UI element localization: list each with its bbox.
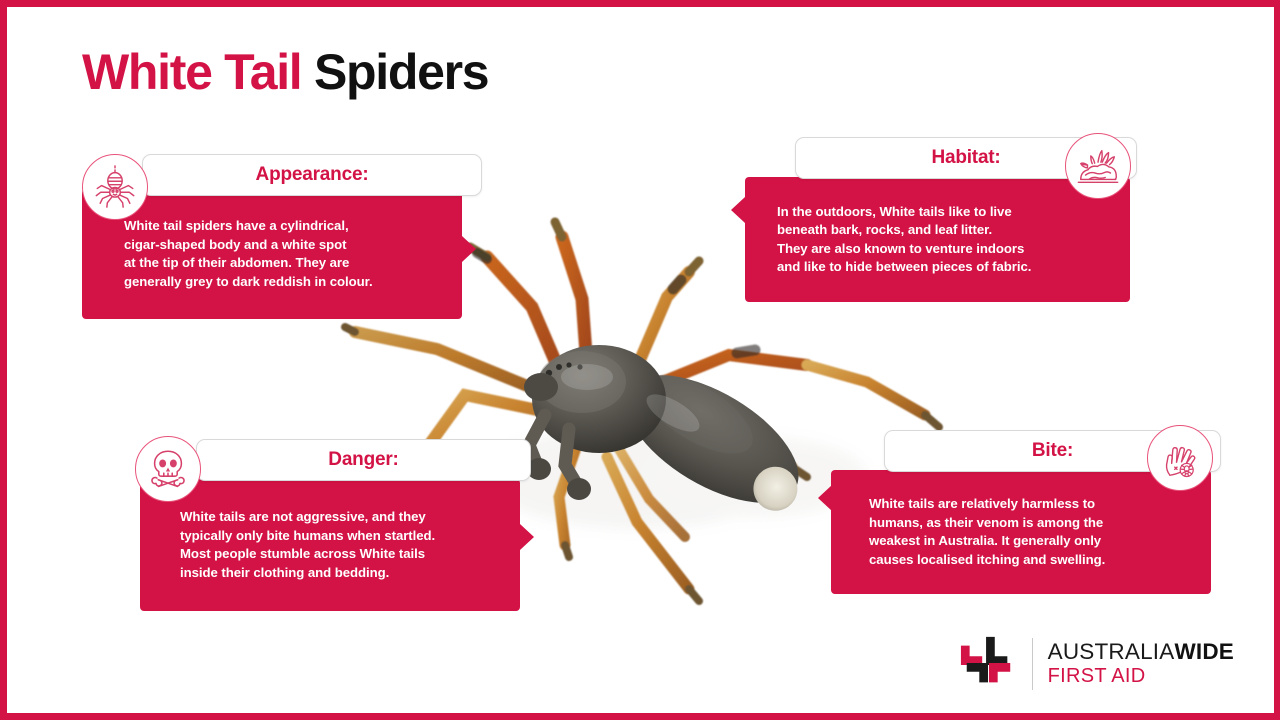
- card-heading-label-habitat: Habitat:: [931, 147, 1000, 169]
- card-text-danger: White tails are not aggressive, and they…: [180, 508, 435, 582]
- page-title: White Tail Spiders: [82, 44, 488, 102]
- card-heading-danger: Danger:: [196, 439, 531, 481]
- card-tail-danger: [520, 524, 534, 550]
- page-frame: White Tail Spiders: [0, 0, 1280, 720]
- card-heading-label-bite: Bite:: [1032, 440, 1073, 462]
- australia-wide-cross-mark: [959, 635, 1017, 693]
- card-text-appearance: White tail spiders have a cylindrical, c…: [124, 217, 373, 291]
- card-tail-bite: [818, 485, 832, 511]
- card-tail-habitat: [731, 197, 745, 223]
- logo-wide-text: WIDE: [1174, 639, 1234, 664]
- card-heading-label-appearance: Appearance:: [256, 164, 369, 186]
- card-body-habitat: In the outdoors, White tails like to liv…: [745, 177, 1130, 302]
- brand-logo: AUSTRALIAWIDE FIRST AID: [959, 635, 1234, 693]
- logo-line-one: AUSTRALIAWIDE: [1048, 640, 1234, 664]
- page-canvas: White Tail Spiders: [7, 7, 1274, 713]
- card-heading-appearance: Appearance:: [142, 154, 482, 196]
- info-card-danger: White tails are not aggressive, and they…: [135, 439, 525, 611]
- info-card-bite: White tails are relatively harmless to h…: [829, 430, 1219, 594]
- rock-leaf-litter-icon: [1065, 133, 1131, 199]
- logo-wordmark: AUSTRALIAWIDE FIRST AID: [1048, 640, 1234, 687]
- card-body-danger: White tails are not aggressive, and they…: [140, 479, 520, 611]
- info-card-habitat: In the outdoors, White tails like to liv…: [737, 137, 1137, 302]
- hand-spider-bite-icon: [1147, 425, 1213, 491]
- logo-divider: [1032, 638, 1033, 690]
- card-body-bite: White tails are relatively harmless to h…: [831, 470, 1211, 594]
- hanging-spider-icon: [82, 154, 148, 220]
- page-title-highlight: White Tail: [82, 44, 301, 100]
- logo-first-aid-text: FIRST AID: [1048, 665, 1234, 688]
- skull-crossbones-icon: [135, 436, 201, 502]
- card-heading-label-danger: Danger:: [328, 449, 398, 471]
- logo-australia-text: AUSTRALIA: [1048, 639, 1175, 664]
- card-tail-appearance: [462, 236, 476, 262]
- card-text-habitat: In the outdoors, White tails like to liv…: [777, 203, 1031, 277]
- page-title-rest: Spiders: [314, 44, 488, 100]
- card-text-bite: White tails are relatively harmless to h…: [869, 495, 1105, 569]
- info-card-appearance: White tail spiders have a cylindrical, c…: [82, 154, 480, 320]
